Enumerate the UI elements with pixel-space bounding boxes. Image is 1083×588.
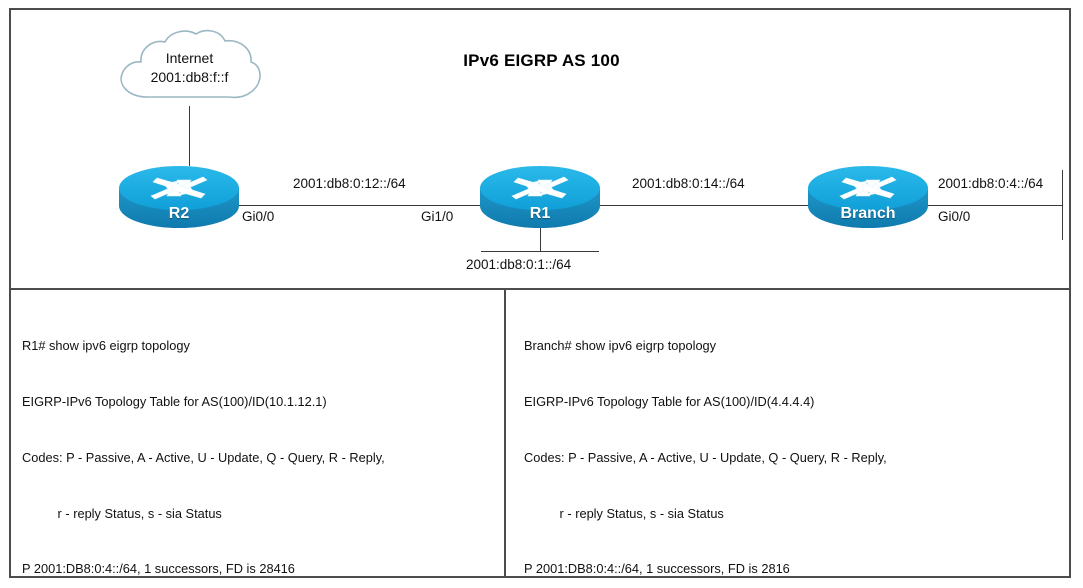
link-r1-to-branch: [598, 205, 811, 206]
terminal-line: EIGRP-IPv6 Topology Table for AS(100)/ID…: [524, 393, 1064, 412]
cloud-name: Internet: [112, 49, 267, 68]
internet-cloud: Internet 2001:db8:f::f: [112, 27, 267, 109]
terminal-line: P 2001:DB8:0:4::/64, 1 successors, FD is…: [524, 560, 1064, 579]
terminal-line: Codes: P - Passive, A - Active, U - Upda…: [524, 449, 1064, 468]
interface-label-r1-gi10: Gi1/0: [421, 209, 453, 224]
interface-label-r2-gi00: Gi0/0: [242, 209, 274, 224]
router-r2[interactable]: R2: [117, 158, 241, 230]
terminal-line: P 2001:DB8:0:4::/64, 1 successors, FD is…: [22, 560, 492, 579]
link-label-r2-r1-network: 2001:db8:0:12::/64: [293, 176, 406, 191]
cloud-label: Internet 2001:db8:f::f: [112, 49, 267, 87]
lan-label-branch-network: 2001:db8:0:4::/64: [938, 176, 1043, 191]
cloud-address: 2001:db8:f::f: [112, 68, 267, 87]
network-topology-figure: IPv6 EIGRP AS 100 Internet 2001:db8:f::f: [0, 0, 1083, 588]
link-label-r1-branch-network: 2001:db8:0:14::/64: [632, 176, 745, 191]
terminal-line: r - reply Status, s - sia Status: [22, 505, 492, 524]
router-branch[interactable]: Branch: [806, 158, 930, 230]
router-r1[interactable]: R1: [478, 158, 602, 230]
lan-bar-branch: [1062, 170, 1063, 240]
terminal-line: Branch# show ipv6 eigrp topology: [524, 337, 1064, 356]
lan-bar-r1: [481, 251, 599, 252]
link-cloud-to-r2: [189, 106, 190, 166]
lan-label-r1-network: 2001:db8:0:1::/64: [466, 257, 571, 272]
interface-label-branch-gi00: Gi0/0: [938, 209, 970, 224]
panel-vertical-divider: [504, 288, 506, 578]
link-branch-to-lan: [921, 205, 1062, 206]
terminal-line: EIGRP-IPv6 Topology Table for AS(100)/ID…: [22, 393, 492, 412]
panel-horizontal-divider: [9, 288, 1071, 290]
terminal-line: r - reply Status, s - sia Status: [524, 505, 1064, 524]
link-r2-to-r1: [239, 205, 482, 206]
branch-topology-output: Branch# show ipv6 eigrp topology EIGRP-I…: [524, 300, 1064, 588]
terminal-line: Codes: P - Passive, A - Active, U - Upda…: [22, 449, 492, 468]
terminal-line: R1# show ipv6 eigrp topology: [22, 337, 492, 356]
r1-topology-output: R1# show ipv6 eigrp topology EIGRP-IPv6 …: [22, 300, 492, 588]
